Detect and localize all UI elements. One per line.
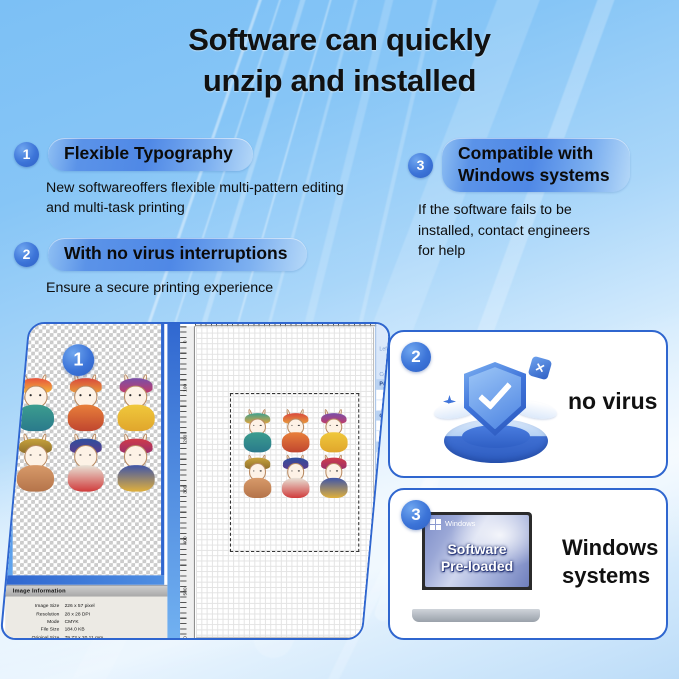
- close-x-icon: [528, 356, 553, 381]
- windows-logo-icon: [430, 519, 441, 530]
- sticker-item: [278, 456, 314, 499]
- info-key: Mode: [5, 617, 64, 625]
- shield-illustration: [438, 350, 553, 465]
- feature-3-title: Compatible with Windows systems: [442, 138, 630, 192]
- page-title-line-2: unzip and installed: [0, 61, 679, 102]
- selection-marquee[interactable]: [230, 393, 359, 552]
- laptop-illustration: Windows Software Pre-loaded: [412, 512, 540, 622]
- feature-2-header: 2 With no virus interruptions: [14, 238, 409, 271]
- property-group-header[interactable]: Sc: [376, 474, 391, 484]
- ruler-tick-label: 300: [182, 486, 187, 494]
- feature-item-1: 1 Flexible Typography New softwareoffers…: [14, 138, 409, 218]
- feature-item-2: 2 With no virus interruptions Ensure a s…: [14, 238, 409, 298]
- ruler-tick-label: 100: [182, 384, 187, 392]
- sticker-thumb: [112, 376, 160, 434]
- screen-viewport: Windows Software Pre-loaded: [425, 515, 529, 587]
- windows-panel-number-badge: 3: [401, 500, 431, 530]
- table-row: Original Size79.73 x 20.11 mm: [5, 633, 183, 640]
- info-value: CMYK: [65, 617, 184, 625]
- laptop-keyboard: [424, 590, 528, 609]
- ruler-tick-label: 600: [182, 636, 187, 640]
- table-row: File Size184.0 KB: [5, 625, 183, 633]
- info-key: Original Size: [5, 633, 64, 640]
- image-information-panel: Image Information Image Size226 x 57 pix…: [5, 585, 183, 640]
- sticker-layout-grid: [239, 411, 351, 500]
- windows-brand-label: Windows: [445, 519, 475, 528]
- page-title: Software can quickly unzip and installed: [0, 20, 679, 102]
- sticker-thumb: [12, 436, 60, 494]
- sticker-thumb: [62, 436, 110, 494]
- image-information-header: Image Information: [5, 586, 183, 597]
- ruler-tick-label: 400: [182, 536, 187, 544]
- laptop-screen: Windows Software Pre-loaded: [422, 512, 532, 590]
- windows-systems-label: Windows systems: [562, 534, 658, 589]
- page-title-line-1: Software can quickly: [188, 22, 490, 57]
- image-information-table: Image Size226 x 57 pixel Resolution28 x …: [5, 602, 183, 640]
- feature-1-body: New softwareoffers flexible multi-patter…: [46, 178, 409, 218]
- table-row: Image Size226 x 57 pixel: [5, 602, 183, 610]
- info-key: Image Size: [5, 602, 64, 610]
- table-row: ModeCMYK: [5, 617, 183, 625]
- info-value: 226 x 57 pixel: [65, 602, 184, 610]
- info-value: 28 x 28 DPI: [65, 610, 184, 618]
- sticker-thumbnail-grid: [12, 376, 160, 493]
- feature-3-number-badge: 3: [408, 153, 433, 178]
- canvas-left-scrollbar[interactable]: [5, 322, 12, 575]
- horizontal-ruler: [195, 322, 390, 326]
- sticker-item: [316, 411, 352, 454]
- feature-3-body: If the software fails to be installed, c…: [418, 200, 676, 260]
- feature-1-number-badge: 1: [14, 142, 39, 167]
- feature-2-body: Ensure a secure printing experience: [46, 278, 409, 298]
- no-virus-panel: 2 no virus: [388, 330, 668, 478]
- virus-panel-number-badge: 2: [401, 342, 431, 372]
- software-screenshot-panel: 1 Image Information Image Size226 x 57 p…: [0, 322, 391, 640]
- no-virus-label: no virus: [568, 388, 657, 415]
- laptop-base: [412, 609, 540, 622]
- sticker-thumb: [112, 436, 160, 494]
- info-key: File Size: [5, 625, 64, 633]
- software-preloaded-text: Software Pre-loaded: [425, 541, 529, 574]
- info-key: Resolution: [5, 610, 64, 618]
- canvas-bottom-scrollbar[interactable]: [5, 575, 164, 585]
- windows-systems-panel: 3 Windows Software Pre-loaded Windows sy…: [388, 488, 668, 640]
- sticker-item: [239, 411, 275, 454]
- sticker-thumb: [62, 376, 110, 434]
- ruler-tick-label: 200: [182, 435, 187, 443]
- vertical-ruler: 0 100 200 300 400 500 600: [180, 326, 195, 640]
- sticker-thumb: [12, 376, 60, 434]
- canvas-edge-strip: [167, 322, 180, 640]
- ruler-tick-label: 500: [182, 587, 187, 595]
- feature-1-title: Flexible Typography: [48, 138, 253, 171]
- sticker-item: [278, 411, 314, 454]
- table-row: Resolution28 x 28 DPI: [5, 610, 183, 618]
- layout-canvas-area: 0 100 200 300 400 500 600 Layout: [167, 322, 390, 640]
- checkmark-icon: [478, 375, 512, 410]
- feature-1-header: 1 Flexible Typography: [14, 138, 409, 171]
- feature-2-title: With no virus interruptions: [48, 238, 307, 271]
- layout-grid[interactable]: [196, 327, 374, 638]
- info-value: 184.0 KB: [65, 625, 184, 633]
- property-row[interactable]: Ea: [376, 483, 391, 494]
- feature-2-number-badge: 2: [14, 242, 39, 267]
- ruler-tick-label: 0: [182, 340, 187, 343]
- feature-item-3: 3 Compatible with Windows systems If the…: [408, 138, 676, 261]
- sticker-item: [316, 456, 352, 499]
- info-value: 79.73 x 20.11 mm: [65, 633, 184, 640]
- sticker-item: [239, 456, 275, 499]
- feature-3-header: 3 Compatible with Windows systems: [408, 138, 676, 192]
- software-panel-number-badge: 1: [62, 344, 94, 376]
